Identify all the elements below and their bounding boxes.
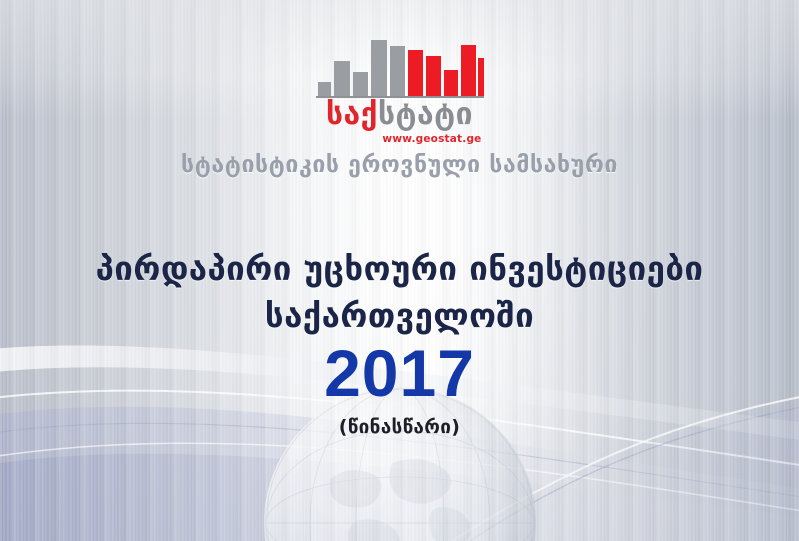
logo-url: www.geostat.ge — [382, 134, 481, 145]
page-title: პირდაპირი უცხოური ინვესტიციები საქართველ… — [0, 246, 799, 340]
logo-bars-gray — [318, 40, 405, 96]
logo-bars-red — [408, 45, 484, 96]
globe-graphic — [264, 387, 536, 541]
title-line-2: საქართველოში — [0, 293, 799, 340]
report-cover: საქსტატი www.geostat.ge სტატისტიკის ეროვ… — [0, 0, 799, 541]
logo-wordmark-red: საქ — [326, 97, 378, 132]
logo-wordmark-gray: სტატი — [378, 97, 473, 132]
report-year: 2017 — [0, 340, 799, 406]
logo-bar-chart-icon — [316, 24, 484, 98]
geostat-logo: საქსტატი www.geostat.ge — [0, 24, 799, 130]
report-year-note: (წინასწარი) — [0, 416, 799, 438]
organization-name: სტატისტიკის ეროვნული სამსახური — [0, 152, 799, 178]
title-line-1: პირდაპირი უცხოური ინვესტიციები — [0, 246, 799, 293]
globe-wireframe — [264, 387, 536, 541]
logo-wordmark: საქსტატი www.geostat.ge — [316, 100, 484, 130]
